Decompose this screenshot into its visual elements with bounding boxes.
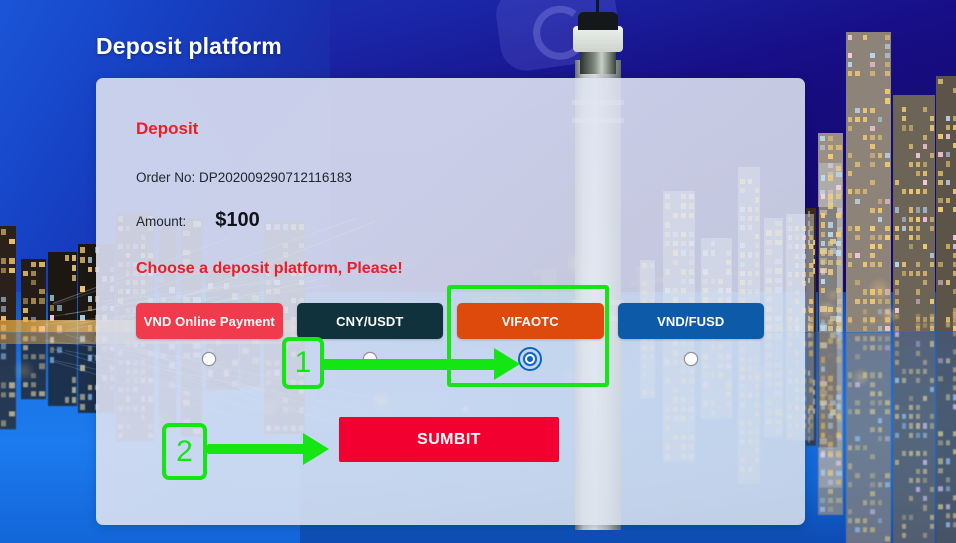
radio-button[interactable] — [684, 352, 698, 366]
submit-button[interactable]: SUMBIT — [339, 417, 559, 462]
building — [0, 226, 16, 332]
payment-option-button[interactable]: VND/FUSD — [618, 303, 765, 339]
payment-option-vnd-online-payment[interactable]: VND Online Payment — [136, 303, 283, 379]
radio-button[interactable] — [363, 352, 377, 366]
radio-button-selected[interactable] — [523, 352, 537, 366]
payment-options-row: VND Online PaymentCNY/USDTVIFAOTCVND/FUS… — [136, 303, 764, 379]
payment-option-radio-wrap[interactable] — [297, 339, 444, 379]
page-title: Deposit platform — [96, 33, 282, 60]
submit-button-wrap: SUMBIT — [339, 417, 559, 462]
deposit-card: Deposit Order No: DP202009290712116183 A… — [96, 78, 805, 525]
payment-option-radio-wrap[interactable] — [618, 339, 765, 379]
light-glow — [867, 277, 892, 302]
payment-option-button[interactable]: VIFAOTC — [457, 303, 604, 339]
tower-cap — [578, 12, 618, 30]
payment-option-radio-wrap[interactable] — [457, 339, 604, 379]
deposit-heading: Deposit — [136, 119, 198, 139]
payment-option-cny-usdt[interactable]: CNY/USDT — [297, 303, 444, 379]
building — [936, 332, 956, 543]
payment-option-vnd-fusd[interactable]: VND/FUSD — [618, 303, 765, 379]
building — [893, 95, 936, 332]
building — [936, 76, 956, 332]
payment-option-button[interactable]: VND Online Payment — [136, 303, 283, 339]
light-glow — [817, 300, 836, 319]
light-glow — [12, 359, 36, 383]
tower-spike — [596, 0, 599, 14]
building — [819, 332, 842, 488]
radio-button[interactable] — [202, 352, 216, 366]
payment-option-vifaotc[interactable]: VIFAOTC — [457, 303, 604, 379]
building — [846, 332, 891, 543]
payment-option-button[interactable]: CNY/USDT — [297, 303, 444, 339]
payment-option-radio-wrap[interactable] — [136, 339, 283, 379]
amount-row: Amount: $100 — [136, 209, 260, 232]
order-number-line: Order No: DP202009290712116183 — [136, 170, 352, 185]
building — [0, 332, 16, 429]
payment-options-group: VND Online PaymentCNY/USDTVIFAOTCVND/FUS… — [136, 303, 764, 379]
light-glow — [826, 288, 840, 302]
building — [893, 332, 936, 543]
amount-value: $100 — [215, 209, 260, 232]
amount-label: Amount: — [136, 214, 186, 229]
choose-platform-prompt: Choose a deposit platform, Please! — [136, 260, 403, 278]
